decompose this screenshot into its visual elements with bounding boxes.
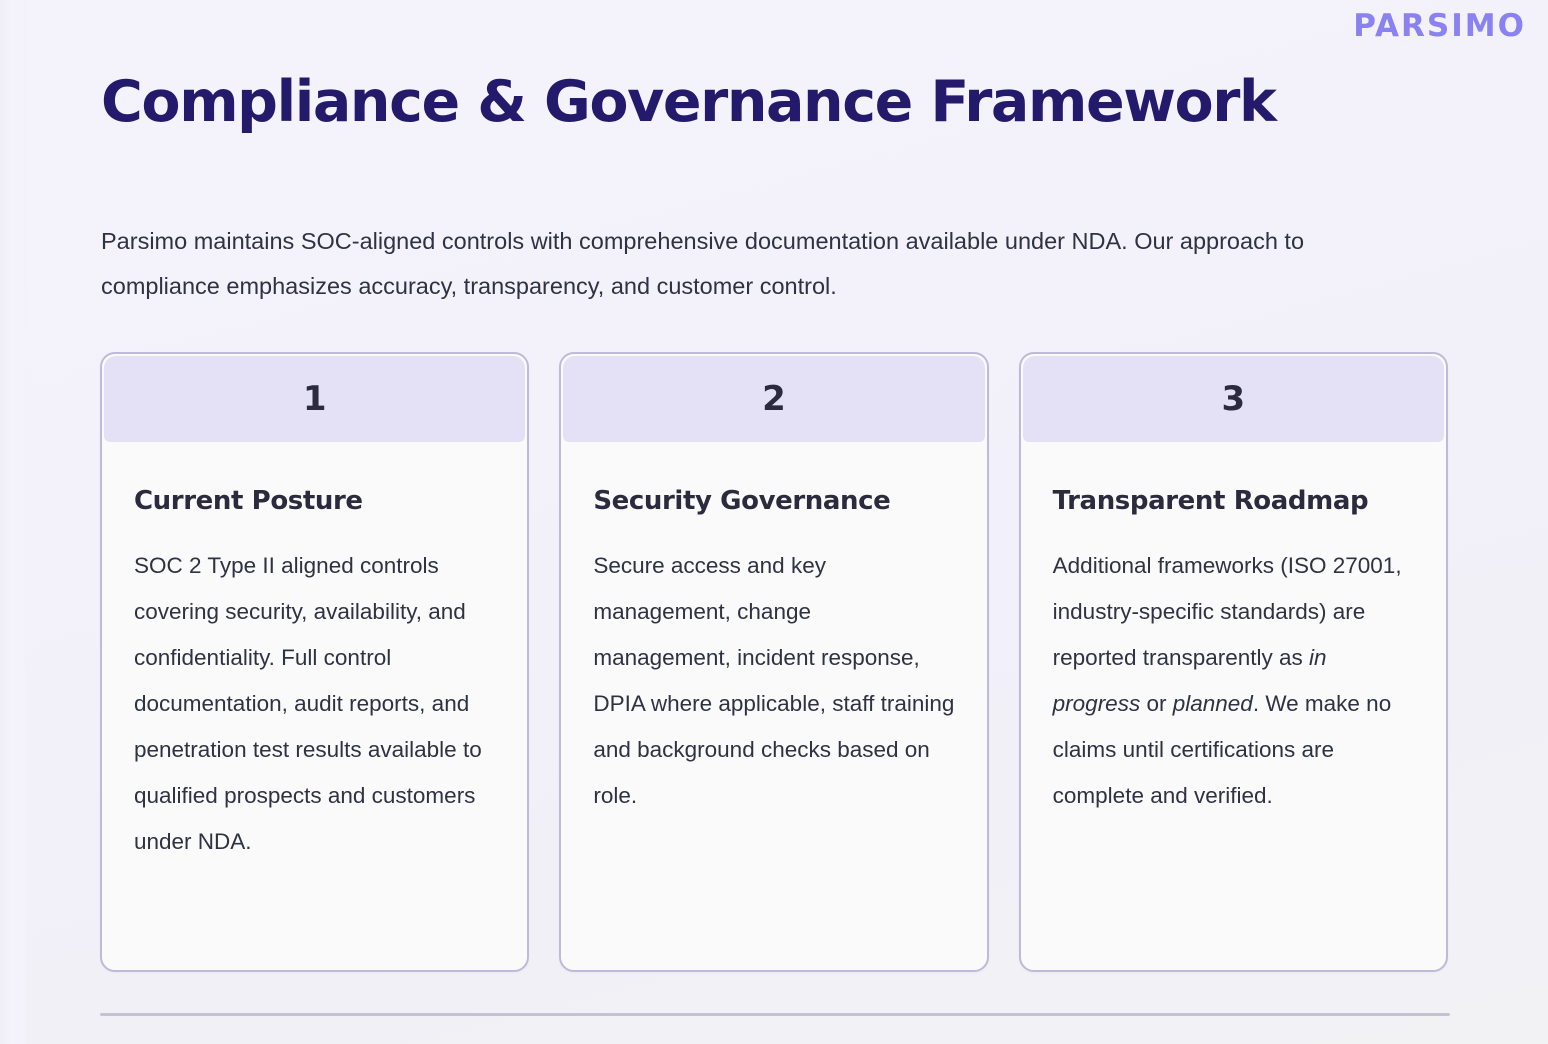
slide-canvas: PARSIMO Compliance & Governance Framewor…	[0, 0, 1548, 1044]
card-title: Current Posture	[134, 486, 495, 517]
framework-card: 1 Current Posture SOC 2 Type II aligned …	[100, 352, 529, 972]
parsimo-logo: PARSIMO	[1353, 11, 1526, 42]
card-number-band: 2	[563, 356, 984, 442]
card-body: Security Governance Secure access and ke…	[563, 442, 984, 970]
footer-divider	[100, 1013, 1450, 1016]
card-description: SOC 2 Type II aligned controls covering …	[134, 543, 495, 865]
intro-paragraph: Parsimo maintains SOC-aligned controls w…	[101, 219, 1401, 309]
card-title: Transparent Roadmap	[1053, 486, 1414, 517]
card-number: 3	[1221, 382, 1245, 416]
card-number-band: 1	[104, 356, 525, 442]
card-description: Secure access and key management, change…	[593, 543, 954, 819]
framework-card: 3 Transparent Roadmap Additional framewo…	[1019, 352, 1448, 972]
card-title: Security Governance	[593, 486, 954, 517]
card-description: Additional frameworks (ISO 27001, indust…	[1053, 543, 1414, 819]
card-body: Transparent Roadmap Additional framework…	[1023, 442, 1444, 970]
card-body: Current Posture SOC 2 Type II aligned co…	[104, 442, 525, 970]
card-number: 1	[303, 382, 327, 416]
background-sheen	[0, 0, 26, 1044]
page-title: Compliance & Governance Framework	[101, 72, 1276, 134]
framework-card: 2 Security Governance Secure access and …	[559, 352, 988, 972]
card-number: 2	[762, 382, 786, 416]
card-number-band: 3	[1023, 356, 1444, 442]
framework-card-row: 1 Current Posture SOC 2 Type II aligned …	[100, 352, 1448, 972]
